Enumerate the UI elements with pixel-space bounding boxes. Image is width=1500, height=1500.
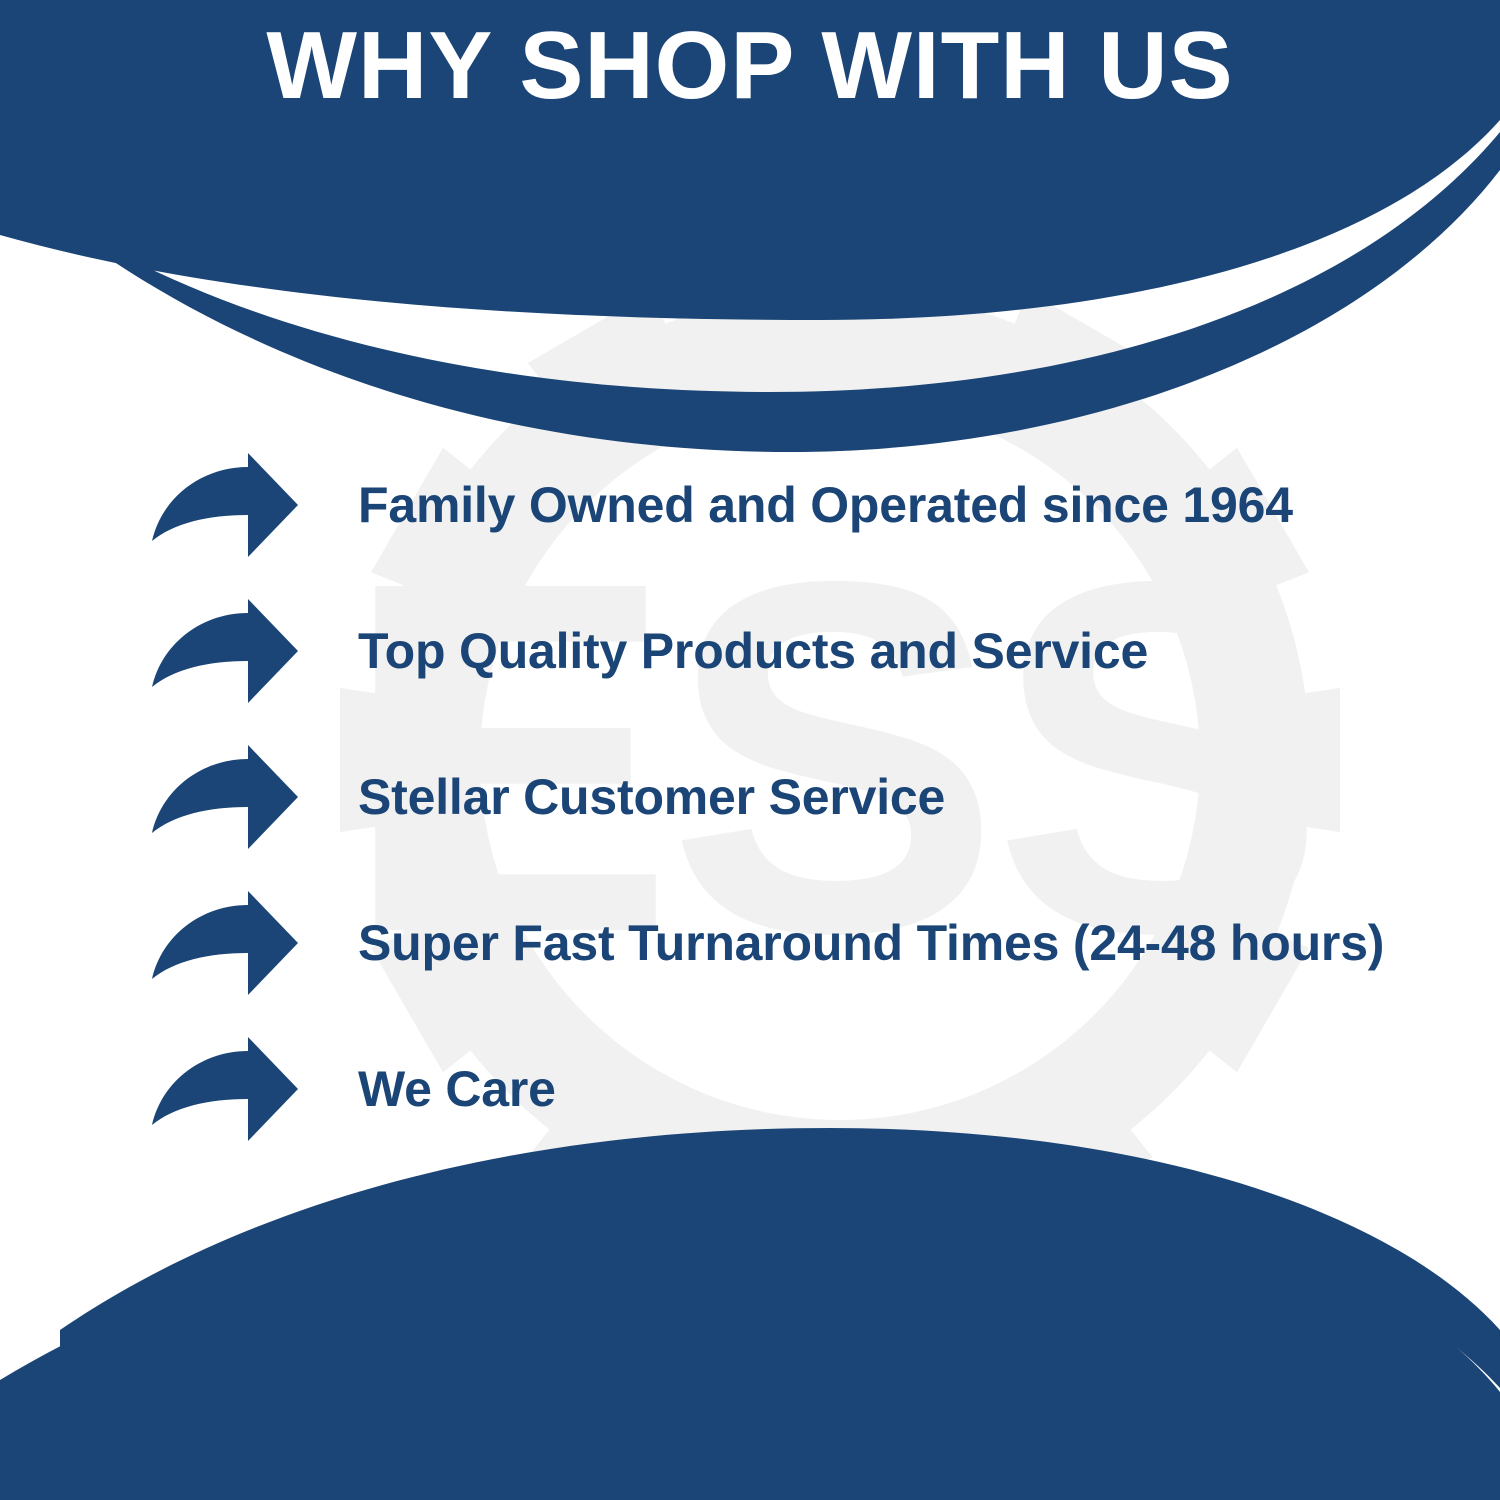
blue-wave-bottom-swoosh bbox=[60, 1128, 1500, 1390]
benefit-label: We Care bbox=[358, 1063, 1450, 1116]
benefit-label: Super Fast Turnaround Times (24-48 hours… bbox=[358, 917, 1450, 970]
benefit-list: Family Owned and Operated since 1964 Top… bbox=[150, 432, 1450, 1162]
benefit-label: Stellar Customer Service bbox=[358, 771, 1450, 824]
curved-arrow-right-icon bbox=[150, 599, 300, 703]
benefit-row: Super Fast Turnaround Times (24-48 hours… bbox=[150, 870, 1450, 1016]
curved-arrow-right-icon bbox=[150, 891, 300, 995]
blue-wave-bottom-main bbox=[0, 1178, 1500, 1500]
benefit-row: Top Quality Products and Service bbox=[150, 578, 1450, 724]
poster-canvas: ESS WHY SHOP WITH US Family Owned and Op… bbox=[0, 0, 1500, 1500]
benefit-label: Top Quality Products and Service bbox=[358, 625, 1450, 678]
page-title: WHY SHOP WITH US bbox=[0, 18, 1500, 114]
curved-arrow-right-icon bbox=[150, 1037, 300, 1141]
blue-wave-top-swoosh bbox=[30, 132, 1500, 452]
benefit-row: Stellar Customer Service bbox=[150, 724, 1450, 870]
benefit-row: Family Owned and Operated since 1964 bbox=[150, 432, 1450, 578]
benefit-row: We Care bbox=[150, 1016, 1450, 1162]
curved-arrow-right-icon bbox=[150, 745, 300, 849]
curved-arrow-right-icon bbox=[150, 453, 300, 557]
benefit-label: Family Owned and Operated since 1964 bbox=[358, 479, 1450, 532]
